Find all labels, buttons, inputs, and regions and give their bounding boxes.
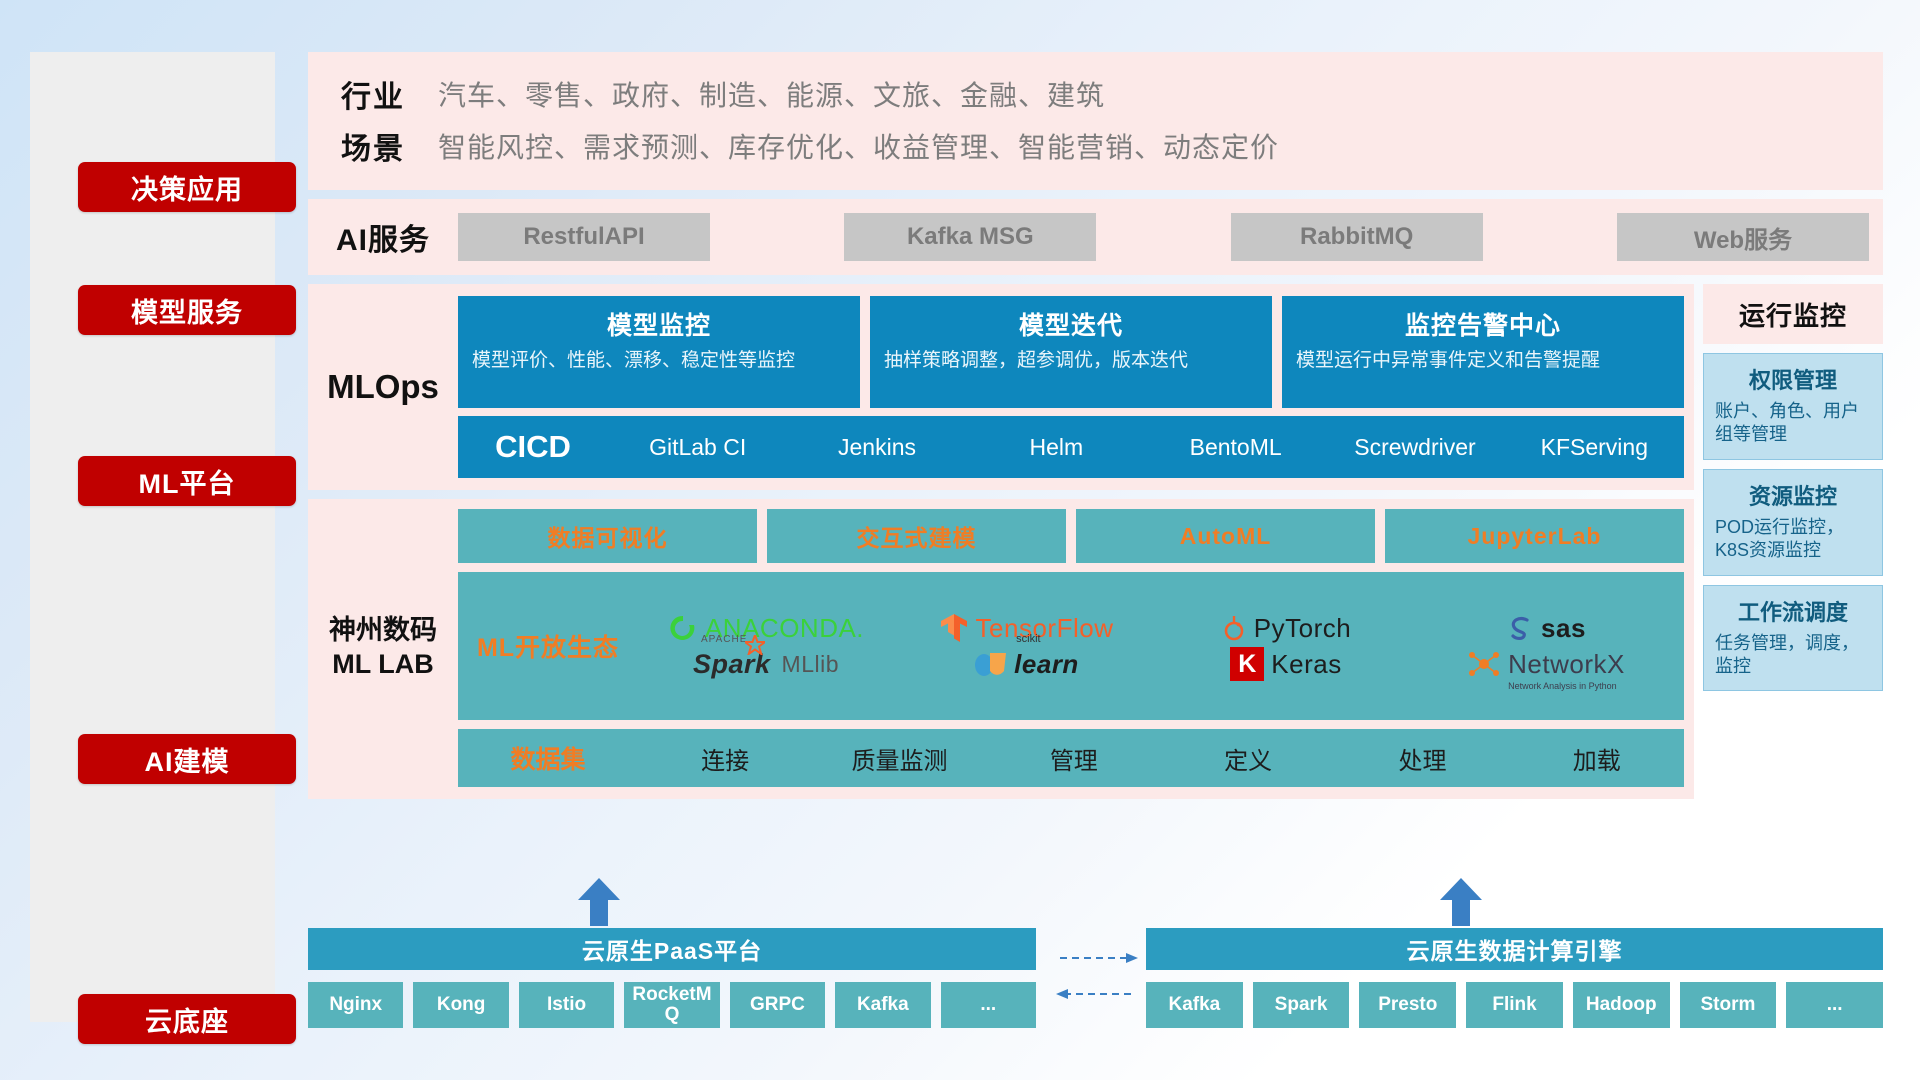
mlops-card-title: 模型监控 xyxy=(472,306,846,342)
ml-ecosystem-box: ML开放生态 ANACONDA. xyxy=(458,572,1684,720)
cicd-label: CICD xyxy=(458,429,608,465)
cicd-item-helm[interactable]: Helm xyxy=(967,435,1146,459)
modeling-tool-row: 数据可视化 交互式建模 AutoML JupyterLab xyxy=(458,509,1684,563)
cloud-chip-more-left[interactable]: ... xyxy=(941,982,1036,1028)
compute-chip-hadoop[interactable]: Hadoop xyxy=(1573,982,1670,1028)
cicd-item-kfserving[interactable]: KFServing xyxy=(1505,435,1684,459)
mlops-content: 模型监控 模型评价、性能、漂移、稳定性等监控 模型迭代 抽样策略调整，超参调优，… xyxy=(458,296,1694,478)
networkx-tagline: Network Analysis in Python xyxy=(1508,681,1617,691)
cicd-item-screwdriver[interactable]: Screwdriver xyxy=(1325,435,1504,459)
spark-apache-text: APACHE xyxy=(701,634,747,645)
ai-service-restfulapi[interactable]: RestfulAPI xyxy=(458,213,710,261)
cicd-item-jenkins[interactable]: Jenkins xyxy=(787,435,966,459)
compute-chip-kafka[interactable]: Kafka xyxy=(1146,982,1243,1028)
cloud-chip-kafka[interactable]: Kafka xyxy=(835,982,930,1028)
cloud-chip-kong[interactable]: Kong xyxy=(413,982,508,1028)
dataset-item-loading[interactable]: 加载 xyxy=(1510,741,1684,776)
dataset-row: 数据集 连接 质量监测 管理 定义 处理 加载 xyxy=(458,729,1684,787)
monitoring-card-desc: 账户、角色、用户组等管理 xyxy=(1715,400,1871,447)
spark-mllib-logo: APACHE Spark MLlib xyxy=(693,649,839,680)
cloud-base-section: 云原生PaaS平台 Nginx Kong Istio RocketMQ GRPC… xyxy=(308,888,1883,1038)
stage-pill-decision-application[interactable]: 决策应用 xyxy=(78,162,296,212)
cloud-paas-group: 云原生PaaS平台 Nginx Kong Istio RocketMQ GRPC… xyxy=(308,928,1036,1028)
modeling-band: 神州数码 ML LAB 数据可视化 交互式建模 AutoML JupyterLa… xyxy=(308,499,1694,799)
ai-service-band: AI服务 RestfulAPI Kafka MSG RabbitMQ Web服务 xyxy=(308,199,1883,275)
stage-pill-ai-modeling[interactable]: AI建模 xyxy=(78,734,296,784)
mlops-card-model-monitoring[interactable]: 模型监控 模型评价、性能、漂移、稳定性等监控 xyxy=(458,296,860,408)
sas-logo-text: sas xyxy=(1541,613,1586,644)
stage-pill-cloud-base[interactable]: 云底座 xyxy=(78,994,296,1044)
modeling-label: 神州数码 ML LAB xyxy=(308,509,458,787)
monitoring-card-title: 资源监控 xyxy=(1715,479,1871,511)
ai-service-kafka-msg[interactable]: Kafka MSG xyxy=(844,213,1096,261)
compute-chip-storm[interactable]: Storm xyxy=(1680,982,1777,1028)
industry-row: 行业 汽车、零售、政府、制造、能源、文旅、金融、建筑 xyxy=(308,68,1883,120)
mlops-label: MLOps xyxy=(308,296,458,478)
learn-logo-text: learn xyxy=(1014,649,1079,679)
tool-jupyterlab[interactable]: JupyterLab xyxy=(1385,509,1684,563)
pytorch-logo: PyTorch xyxy=(1221,613,1351,644)
stage-rail: 决策应用 模型服务 ML平台 AI建模 云底座 xyxy=(30,52,275,1022)
anaconda-logo: ANACONDA. xyxy=(668,613,864,644)
cloud-compute-title: 云原生数据计算引擎 xyxy=(1146,928,1883,970)
cloud-compute-group: 云原生数据计算引擎 Kafka Spark Presto Flink Hadoo… xyxy=(1146,928,1883,1028)
dataset-item-definition[interactable]: 定义 xyxy=(1161,741,1335,776)
ai-service-web[interactable]: Web服务 xyxy=(1617,213,1869,261)
mlops-card-title: 监控告警中心 xyxy=(1296,306,1670,342)
scene-row: 场景 智能风控、需求预测、库存优化、收益管理、智能营销、动态定价 xyxy=(308,120,1883,172)
compute-chip-spark[interactable]: Spark xyxy=(1253,982,1350,1028)
cloud-paas-chip-row: Nginx Kong Istio RocketMQ GRPC Kafka ... xyxy=(308,982,1036,1028)
ai-service-box-list: RestfulAPI Kafka MSG RabbitMQ Web服务 xyxy=(458,213,1883,261)
pytorch-logo-text: PyTorch xyxy=(1254,613,1351,644)
platform-left: MLOps 模型监控 模型评价、性能、漂移、稳定性等监控 模型迭代 抽样策略调整… xyxy=(308,284,1694,799)
stage-pill-ml-platform[interactable]: ML平台 xyxy=(78,456,296,506)
ml-ecosystem-logo-grid: ANACONDA. TensorFlow xyxy=(638,611,1684,681)
networkx-icon xyxy=(1467,648,1501,680)
sas-logo: sas xyxy=(1506,613,1586,644)
cloud-paas-title: 云原生PaaS平台 xyxy=(308,928,1036,970)
cloud-chip-grpc[interactable]: GRPC xyxy=(730,982,825,1028)
monitoring-card-resource[interactable]: 资源监控 POD运行监控，K8S资源监控 xyxy=(1703,469,1883,576)
keras-logo: K Keras xyxy=(1230,647,1341,681)
tensorflow-logo-text: TensorFlow xyxy=(976,613,1114,644)
mlops-card-desc: 模型评价、性能、漂移、稳定性等监控 xyxy=(472,348,846,373)
monitoring-card-title: 权限管理 xyxy=(1715,363,1871,395)
arrow-up-compute-icon xyxy=(1440,878,1482,926)
platform-section: MLOps 模型监控 模型评价、性能、漂移、稳定性等监控 模型迭代 抽样策略调整… xyxy=(308,284,1883,799)
stage-pill-model-service[interactable]: 模型服务 xyxy=(78,285,296,335)
tool-data-visualization[interactable]: 数据可视化 xyxy=(458,509,757,563)
keras-badge-icon: K xyxy=(1230,647,1264,681)
dataset-label: 数据集 xyxy=(458,740,638,776)
scene-label: 场景 xyxy=(308,124,438,168)
dataset-item-management[interactable]: 管理 xyxy=(987,741,1161,776)
cloud-compute-chip-row: Kafka Spark Presto Flink Hadoop Storm ..… xyxy=(1146,982,1883,1028)
sas-icon xyxy=(1506,614,1534,642)
dataset-item-connect[interactable]: 连接 xyxy=(638,741,812,776)
scikit-learn-logo: scikit learn xyxy=(973,648,1079,680)
networkx-logo-text: NetworkX xyxy=(1508,649,1625,679)
compute-chip-presto[interactable]: Presto xyxy=(1359,982,1456,1028)
modeling-label-line2: ML LAB xyxy=(332,649,434,679)
cloud-chip-istio[interactable]: Istio xyxy=(519,982,614,1028)
industry-value: 汽车、零售、政府、制造、能源、文旅、金融、建筑 xyxy=(438,74,1105,114)
monitoring-card-permission[interactable]: 权限管理 账户、角色、用户组等管理 xyxy=(1703,353,1883,460)
arrow-up-paas-icon xyxy=(578,878,620,926)
modeling-label-line1: 神州数码 xyxy=(329,615,437,645)
cloud-chip-nginx[interactable]: Nginx xyxy=(308,982,403,1028)
scene-value: 智能风控、需求预测、库存优化、收益管理、智能营销、动态定价 xyxy=(438,126,1279,166)
networkx-logo: NetworkX Network Analysis in Python xyxy=(1467,648,1625,680)
modeling-content: 数据可视化 交互式建模 AutoML JupyterLab ML开放生态 xyxy=(458,509,1694,787)
dataset-item-quality-monitoring[interactable]: 质量监测 xyxy=(812,741,986,776)
mlops-card-model-iteration[interactable]: 模型迭代 抽样策略调整，超参调优，版本迭代 xyxy=(870,296,1272,408)
spark-star-icon xyxy=(745,635,765,655)
mlops-band: MLOps 模型监控 模型评价、性能、漂移、稳定性等监控 模型迭代 抽样策略调整… xyxy=(308,284,1694,490)
cicd-item-gitlab-ci[interactable]: GitLab CI xyxy=(608,435,787,459)
monitoring-rail: 运行监控 权限管理 账户、角色、用户组等管理 资源监控 POD运行监控，K8S资… xyxy=(1703,284,1883,799)
mlops-card-desc: 抽样策略调整，超参调优，版本迭代 xyxy=(884,348,1258,373)
tool-automl[interactable]: AutoML xyxy=(1076,509,1375,563)
ml-ecosystem-label: ML开放生态 xyxy=(458,628,638,664)
architecture-diagram: 决策应用 模型服务 ML平台 AI建模 云底座 行业 汽车、零售、政府、制造、能… xyxy=(0,0,1920,1080)
monitoring-card-title: 工作流调度 xyxy=(1715,595,1871,627)
compute-chip-flink[interactable]: Flink xyxy=(1466,982,1563,1028)
bidirectional-dashed-link-icon xyxy=(1056,948,1138,1006)
monitoring-card-desc: POD运行监控，K8S资源监控 xyxy=(1715,516,1871,563)
scikit-logo-text: scikit xyxy=(1016,633,1040,645)
cloud-chip-rocketmq[interactable]: RocketMQ xyxy=(624,982,719,1028)
main-column: 行业 汽车、零售、政府、制造、能源、文旅、金融、建筑 场景 智能风控、需求预测、… xyxy=(308,52,1883,799)
pytorch-icon xyxy=(1221,613,1247,643)
monitoring-card-desc: 任务管理，调度，监控 xyxy=(1715,632,1871,679)
dataset-item-processing[interactable]: 处理 xyxy=(1335,741,1509,776)
mlops-card-title: 模型迭代 xyxy=(884,306,1258,342)
mlops-card-list: 模型监控 模型评价、性能、漂移、稳定性等监控 模型迭代 抽样策略调整，超参调优，… xyxy=(458,296,1684,408)
monitoring-title: 运行监控 xyxy=(1703,284,1883,344)
mlops-card-alert-center[interactable]: 监控告警中心 模型运行中异常事件定义和告警提醒 xyxy=(1282,296,1684,408)
mllib-logo-text: MLlib xyxy=(782,651,839,678)
scikit-learn-icon xyxy=(973,648,1007,680)
tool-interactive-modeling[interactable]: 交互式建模 xyxy=(767,509,1066,563)
cicd-row: CICD GitLab CI Jenkins Helm BentoML Scre… xyxy=(458,416,1684,478)
tensorflow-icon xyxy=(939,612,969,644)
mlops-card-desc: 模型运行中异常事件定义和告警提醒 xyxy=(1296,348,1670,373)
ai-service-rabbitmq[interactable]: RabbitMQ xyxy=(1231,213,1483,261)
compute-chip-more-right[interactable]: ... xyxy=(1786,982,1883,1028)
cicd-item-bentoml[interactable]: BentoML xyxy=(1146,435,1325,459)
keras-logo-text: Keras xyxy=(1271,649,1341,680)
ai-service-label: AI服务 xyxy=(308,215,458,259)
anaconda-icon xyxy=(668,613,698,643)
application-band: 行业 汽车、零售、政府、制造、能源、文旅、金融、建筑 场景 智能风控、需求预测、… xyxy=(308,52,1883,190)
monitoring-card-workflow[interactable]: 工作流调度 任务管理，调度，监控 xyxy=(1703,585,1883,692)
industry-label: 行业 xyxy=(308,72,438,116)
